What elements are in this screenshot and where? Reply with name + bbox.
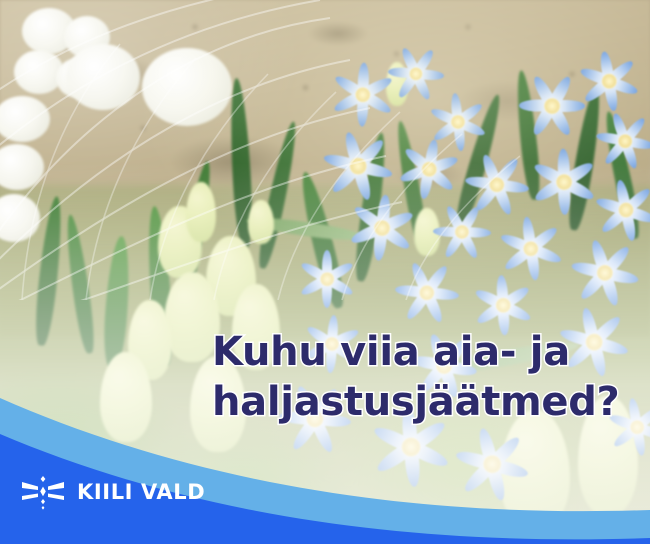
blue-blossom [296, 248, 358, 310]
kiili-dragonfly-icon [21, 474, 65, 510]
flower-bud [248, 200, 274, 244]
blue-blossom [592, 176, 650, 244]
blue-blossom [594, 110, 650, 172]
kiili-vald-banner: Kuhu viia aia- ja haljastusjäätmed? [0, 0, 650, 544]
blue-blossom [528, 146, 600, 218]
blue-blossom [452, 424, 532, 504]
flower-bed-photo [0, 0, 650, 544]
blue-blossom [392, 258, 462, 328]
page-title: Kuhu viia aia- ja haljastusjäätmed? [212, 327, 642, 427]
flower-bud [186, 182, 216, 242]
logo-text: KIILI VALD [77, 480, 205, 504]
blue-blossom [576, 48, 642, 114]
logo[interactable]: KIILI VALD [21, 474, 205, 510]
blue-blossom [568, 236, 642, 310]
white-flower [66, 44, 140, 110]
flower-bud [100, 352, 152, 442]
blue-blossom [430, 200, 494, 264]
white-flower [142, 48, 232, 126]
